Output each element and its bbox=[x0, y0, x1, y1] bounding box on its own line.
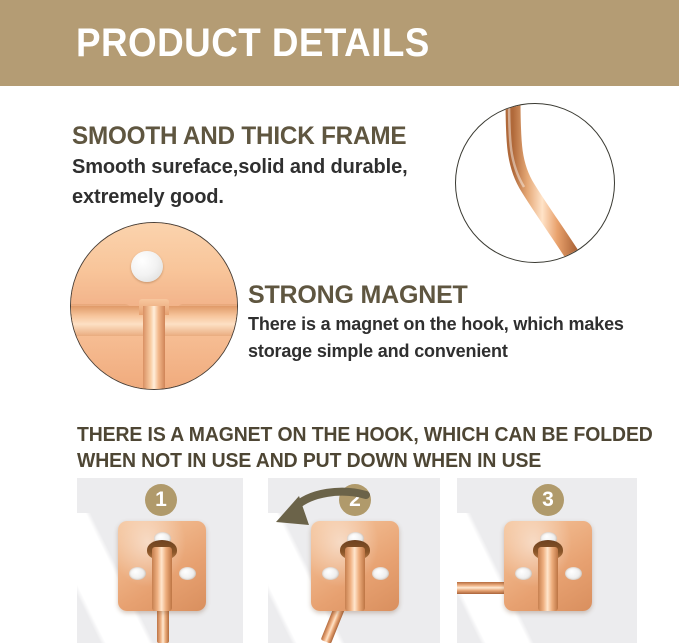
step-panel-3: 3 bbox=[457, 478, 637, 643]
body-line: storage simple and convenient bbox=[248, 338, 648, 365]
body-line: There is a magnet on the hook, which mak… bbox=[248, 311, 648, 338]
hook-rod-down bbox=[157, 606, 169, 643]
bottom-headline: THERE IS A MAGNET ON THE HOOK, WHICH CAN… bbox=[77, 422, 620, 474]
bent-copper-rod-icon bbox=[456, 104, 615, 263]
headline-line: THERE IS A MAGNET ON THE HOOK, WHICH CAN… bbox=[77, 422, 620, 448]
hook-stem-vertical bbox=[538, 547, 558, 611]
magnet-disc bbox=[131, 251, 163, 282]
mounting-plate bbox=[504, 521, 592, 611]
headline-line: WHEN NOT IN USE AND PUT DOWN WHEN IN USE bbox=[77, 448, 620, 474]
step-badge-3: 3 bbox=[532, 484, 564, 516]
section-body-strong-magnet: There is a magnet on the hook, which mak… bbox=[248, 311, 648, 365]
section-heading-strong-magnet: STRONG MAGNET bbox=[248, 281, 468, 310]
step-badge-1: 1 bbox=[145, 484, 177, 516]
plate-hole-right bbox=[565, 567, 582, 580]
bent-rod-circle-image bbox=[455, 103, 615, 263]
fold-arrow-icon bbox=[268, 486, 378, 542]
header-band: PRODUCT DETAILS bbox=[0, 0, 679, 86]
hook-stem-vertical bbox=[152, 547, 172, 611]
magnet-closeup-circle-image bbox=[70, 222, 238, 390]
plate-hole-left bbox=[515, 567, 532, 580]
step-panels: 1 2 3 bbox=[0, 478, 679, 643]
body-line: extremely good. bbox=[72, 182, 452, 212]
step-panel-1: 1 bbox=[77, 478, 243, 643]
section-body-smooth-frame: Smooth sureface,solid and durable, extre… bbox=[72, 152, 452, 212]
body-line: Smooth sureface,solid and durable, bbox=[72, 152, 452, 182]
step-panel-2: 2 bbox=[268, 478, 440, 643]
mounting-plate bbox=[118, 521, 206, 611]
page-title: PRODUCT DETAILS bbox=[76, 19, 430, 67]
plate-hole-left bbox=[129, 567, 146, 580]
section-heading-smooth-frame: SMOOTH AND THICK FRAME bbox=[72, 122, 406, 151]
hook-stem-vertical bbox=[345, 547, 365, 611]
hook-stem bbox=[143, 306, 165, 389]
plate-hole-right bbox=[179, 567, 196, 580]
plate-hole-right bbox=[372, 567, 389, 580]
plate-hole-left bbox=[322, 567, 339, 580]
